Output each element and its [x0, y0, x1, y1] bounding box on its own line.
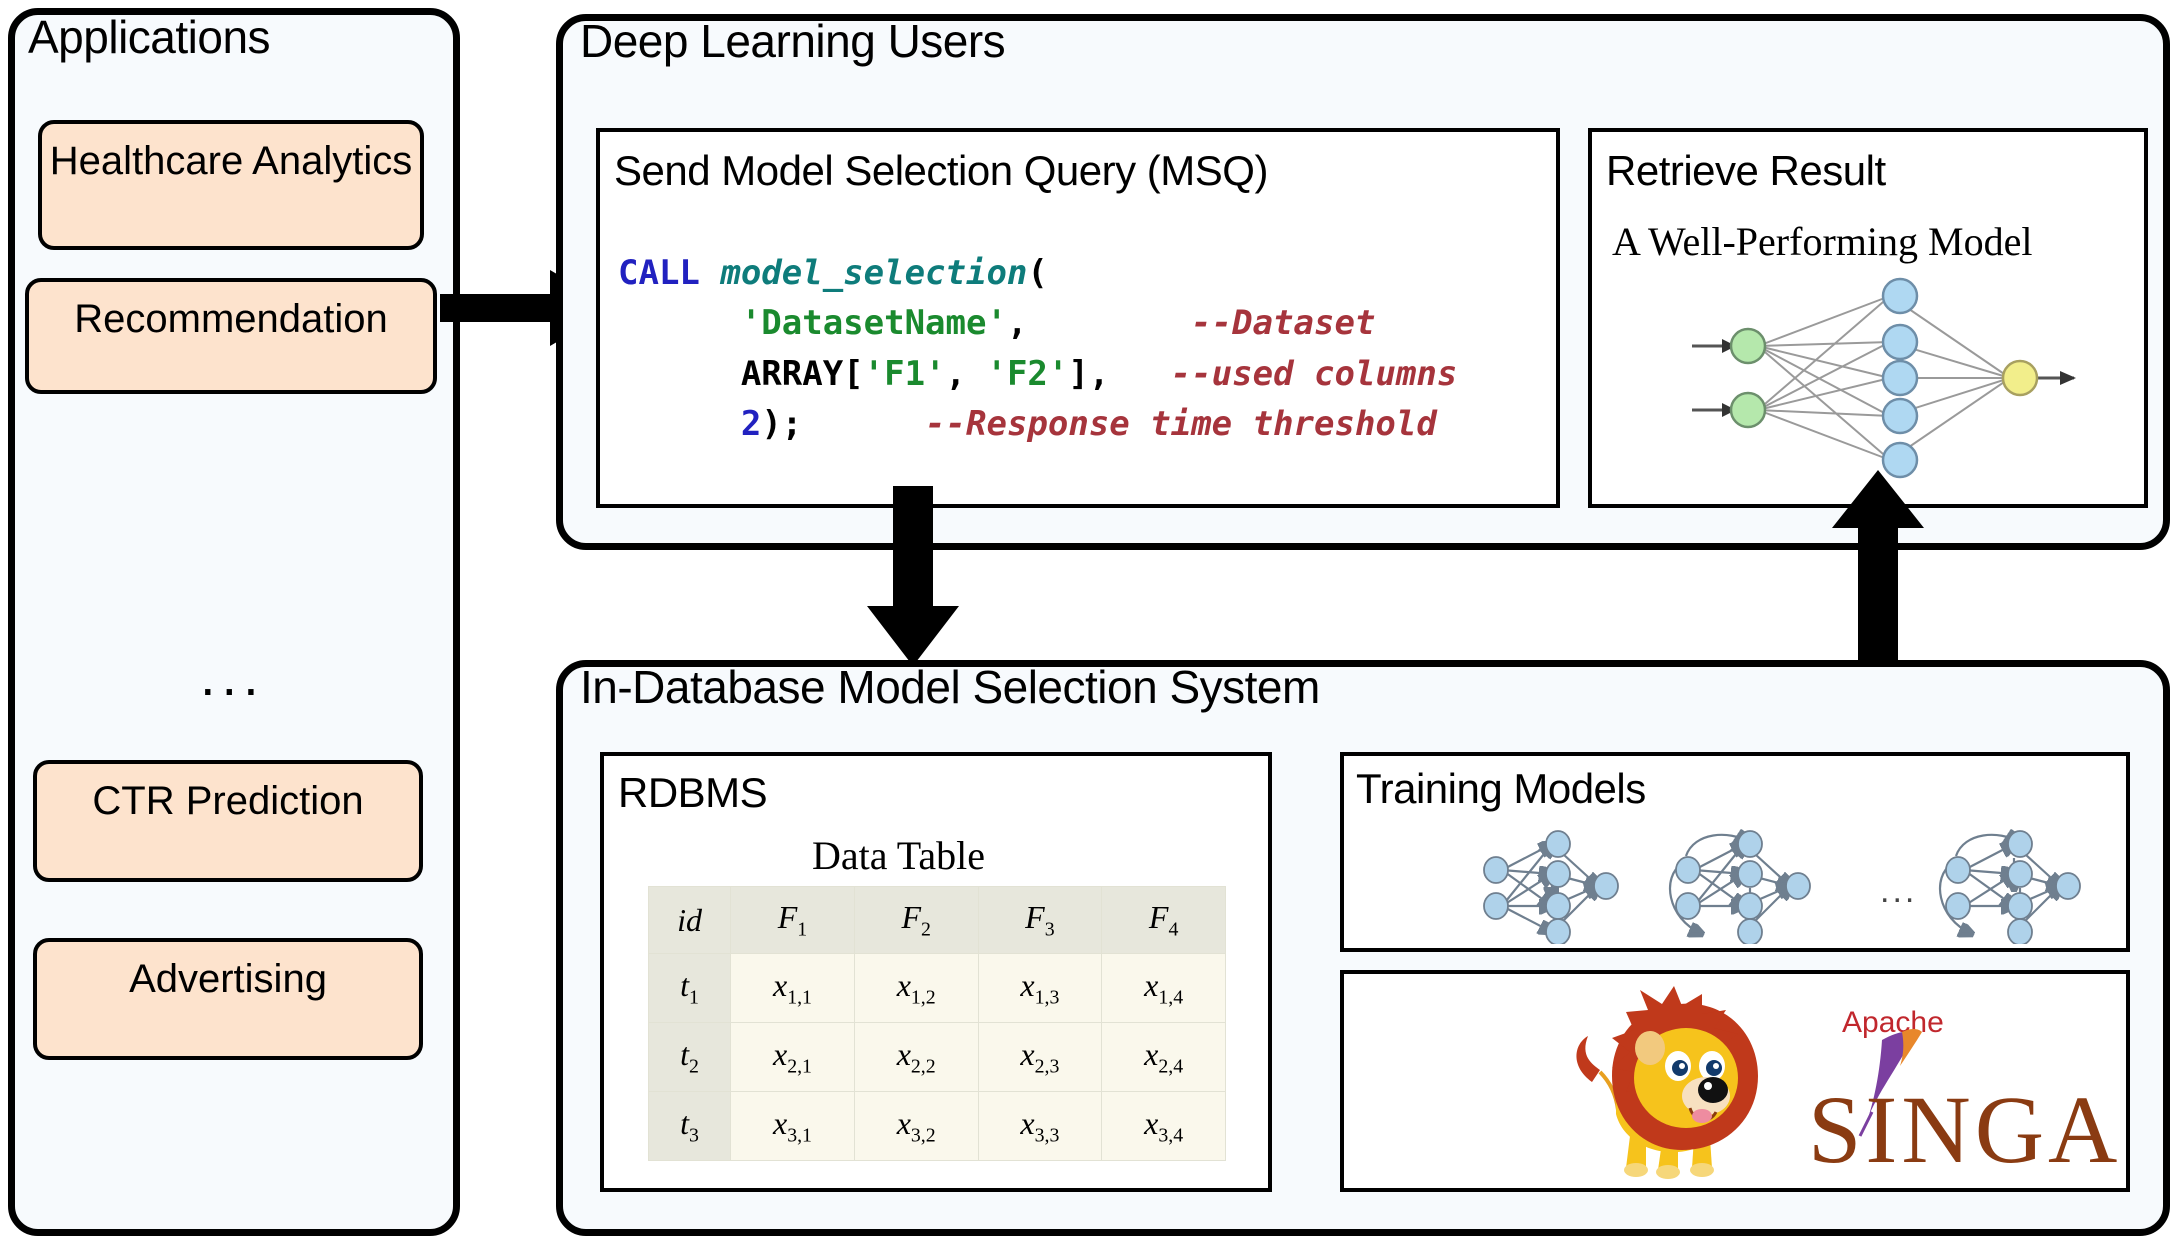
- retrieve-result-title: Retrieve Result: [1606, 150, 1886, 192]
- code-token: [618, 404, 741, 444]
- code-token: );: [761, 404, 925, 444]
- rdbms-title: RDBMS: [618, 772, 767, 814]
- apache-singa-logo: Apache SINGA: [1530, 986, 2130, 1182]
- table-cell: x3,3: [978, 1092, 1102, 1161]
- training-models-ellipsis: ...: [1880, 872, 1917, 911]
- table-cell: x2,4: [1102, 1023, 1226, 1092]
- code-token: ],: [1068, 354, 1170, 394]
- table-cell: x2,1: [731, 1023, 855, 1092]
- apache-vendor-text: Apache: [1842, 1006, 1944, 1039]
- deep-learning-users-title: Deep Learning Users: [580, 18, 1005, 64]
- code-token: ,: [946, 354, 987, 394]
- code-token: 2: [741, 404, 761, 444]
- table-cell: x3,1: [731, 1092, 855, 1161]
- training-model-graph-1-icon: [1476, 828, 1676, 944]
- arrow-users-to-system: [856, 486, 976, 676]
- code-token: 'F1': [864, 354, 946, 394]
- code-token: 'F2': [986, 354, 1068, 394]
- application-chip-ctr[interactable]: CTR Prediction: [33, 760, 423, 882]
- data-table: idF1F2F3F4 t1x1,1x1,2x1,3x1,4t2x2,1x2,2x…: [648, 886, 1226, 1161]
- table-column-header: F2: [854, 887, 978, 954]
- code-token: model_selection: [720, 253, 1027, 293]
- code-token: 'DatasetName': [741, 303, 1007, 343]
- applications-ellipsis: ...: [200, 648, 265, 704]
- table-header-row: idF1F2F3F4: [649, 887, 1226, 954]
- training-model-graph-2-icon: [1668, 828, 1868, 944]
- msq-code[interactable]: CALL model_selection( 'DatasetName', --D…: [618, 248, 1457, 449]
- msq-title: Send Model Selection Query (MSQ): [614, 150, 1268, 192]
- training-model-graph-3-icon: [1938, 828, 2138, 944]
- code-token: [618, 303, 741, 343]
- code-token: CALL: [618, 253, 720, 293]
- code-line: 2); --Response time threshold: [618, 399, 1457, 449]
- table-column-header: id: [649, 887, 731, 954]
- retrieve-result-subtitle: A Well-Performing Model: [1612, 218, 2032, 265]
- table-cell-id: t1: [649, 954, 731, 1023]
- code-token: ,: [1007, 303, 1191, 343]
- table-cell: x1,4: [1102, 954, 1226, 1023]
- application-chip-label: Recommendation: [74, 296, 388, 390]
- table-cell: x3,2: [854, 1092, 978, 1161]
- code-line: ARRAY['F1', 'F2'], --used columns: [618, 349, 1457, 399]
- table-cell: x2,3: [978, 1023, 1102, 1092]
- application-chip-label: Healthcare Analytics: [50, 138, 412, 246]
- table-cell-id: t3: [649, 1092, 731, 1161]
- result-neural-network-icon: [1650, 268, 2090, 488]
- table-cell: x3,4: [1102, 1092, 1226, 1161]
- code-token: --Dataset: [1191, 303, 1375, 343]
- arrow-system-to-result: [1820, 470, 1940, 690]
- table-column-header: F3: [978, 887, 1102, 954]
- table-cell: x2,2: [854, 1023, 978, 1092]
- application-chip-healthcare[interactable]: Healthcare Analytics: [38, 120, 424, 250]
- singa-wordmark-text: SINGA: [1808, 1076, 2121, 1182]
- application-chip-label: CTR Prediction: [92, 778, 363, 878]
- table-cell: x1,3: [978, 954, 1102, 1023]
- table-row: t1x1,1x1,2x1,3x1,4: [649, 954, 1226, 1023]
- table-cell: x1,1: [731, 954, 855, 1023]
- code-token: --used columns: [1171, 354, 1458, 394]
- code-token: (: [1027, 253, 1047, 293]
- applications-panel-title: Applications: [28, 14, 270, 60]
- application-chip-recommendation[interactable]: Recommendation: [25, 278, 437, 394]
- code-line: CALL model_selection(: [618, 248, 1457, 298]
- table-column-header: F1: [731, 887, 855, 954]
- application-chip-label: Advertising: [129, 956, 327, 1056]
- data-table-caption: Data Table: [812, 832, 985, 879]
- table-row: t2x2,1x2,2x2,3x2,4: [649, 1023, 1226, 1092]
- table-column-header: F4: [1102, 887, 1226, 954]
- code-line: 'DatasetName', --Dataset: [618, 298, 1457, 348]
- in-database-system-title: In-Database Model Selection System: [580, 664, 1320, 710]
- table-cell-id: t2: [649, 1023, 731, 1092]
- code-token: --Response time threshold: [925, 404, 1437, 444]
- training-models-title: Training Models: [1356, 768, 1646, 810]
- code-token: ARRAY[: [618, 354, 864, 394]
- table-row: t3x3,1x3,2x3,3x3,4: [649, 1092, 1226, 1161]
- application-chip-advertising[interactable]: Advertising: [33, 938, 423, 1060]
- table-cell: x1,2: [854, 954, 978, 1023]
